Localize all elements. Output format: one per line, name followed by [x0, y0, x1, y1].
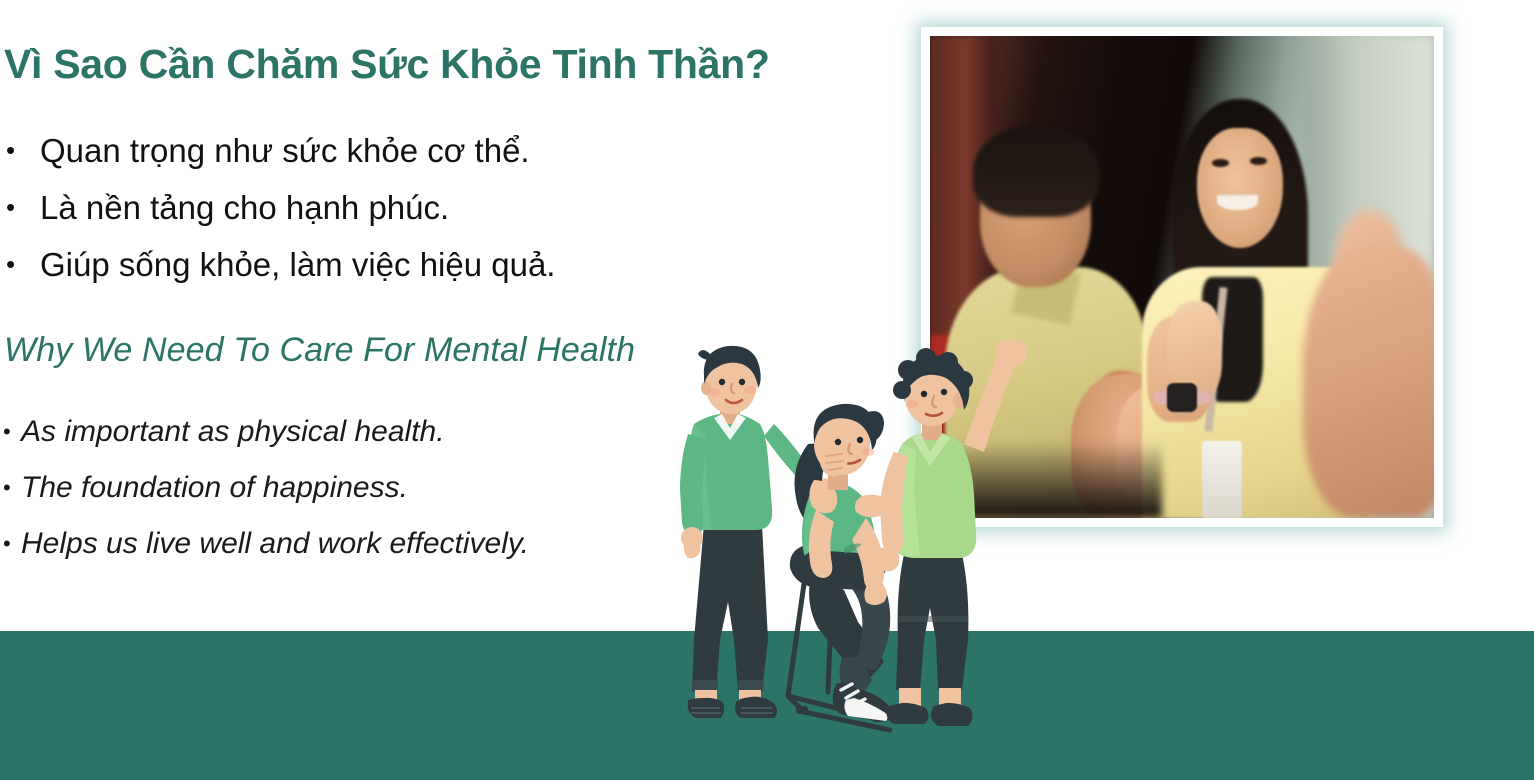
- photo-woman-eye-left: [1212, 159, 1229, 167]
- list-item: • Là nền tảng cho hạnh phúc.: [6, 179, 866, 236]
- photo-id-badge: [1202, 441, 1242, 518]
- slide-canvas: Vì Sao Cần Chăm Sức Khỏe Tinh Thần? • Qu…: [0, 0, 1534, 780]
- photo-smartwatch: [1167, 383, 1197, 412]
- supportive-friends-illustration: [676, 340, 1096, 740]
- list-item: • Giúp sống khỏe, làm việc hiệu quả.: [6, 236, 866, 293]
- bullet-dot-icon: •: [3, 460, 21, 516]
- vietnamese-bullet-list: • Quan trọng như sức khỏe cơ thể. • Là n…: [6, 122, 866, 293]
- bullet-dot-icon: •: [6, 236, 40, 293]
- bullet-dot-icon: •: [6, 179, 40, 236]
- list-item-label: Giúp sống khỏe, làm việc hiệu quả.: [40, 236, 555, 293]
- illustration-person-center: [795, 404, 893, 722]
- bullet-dot-icon: •: [3, 404, 21, 460]
- list-item-label: Là nền tảng cho hạnh phúc.: [40, 179, 449, 236]
- list-item-label: Quan trọng như sức khỏe cơ thể.: [40, 122, 530, 179]
- list-item-label: As important as physical health.: [21, 404, 445, 460]
- illustration-person-right: [855, 340, 1027, 726]
- list-item-label: Helps us live well and work effectively.: [21, 516, 529, 572]
- bullet-dot-icon: •: [6, 122, 40, 179]
- photo-woman-eye-right: [1250, 157, 1267, 165]
- photo-man-hair: [973, 125, 1099, 217]
- photo-foreground-hand: [1303, 248, 1434, 518]
- list-item: • Quan trọng như sức khỏe cơ thể.: [6, 122, 866, 179]
- bullet-dot-icon: •: [3, 516, 21, 572]
- photo-woman-face: [1197, 128, 1283, 249]
- page-title: Vì Sao Cần Chăm Sức Khỏe Tinh Thần?: [4, 40, 770, 88]
- subtitle-english: Why We Need To Care For Mental Health: [4, 328, 635, 372]
- list-item-label: The foundation of happiness.: [21, 460, 408, 516]
